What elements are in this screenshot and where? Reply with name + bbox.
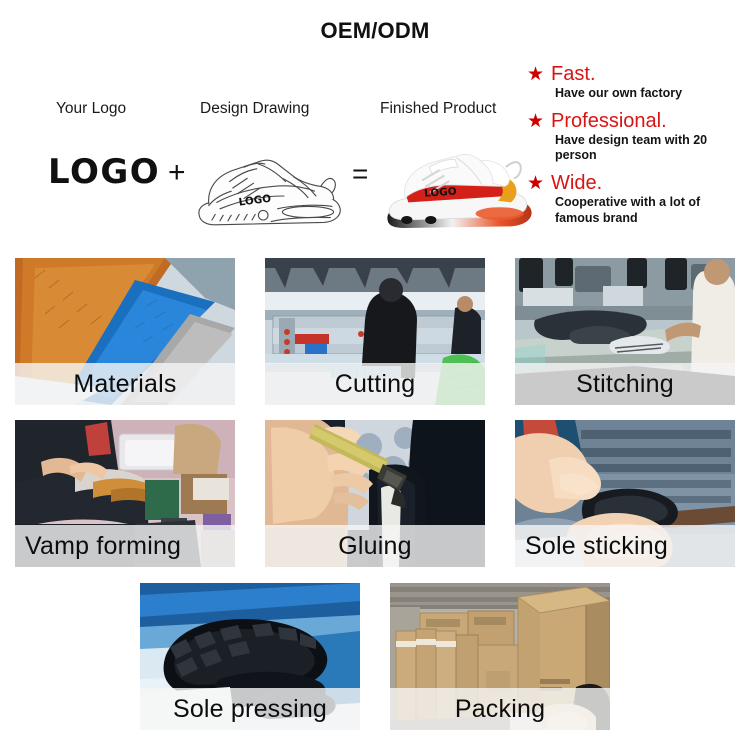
process-tile-cutting[interactable]: Cutting <box>265 258 485 405</box>
tile-caption: Sole sticking <box>515 525 735 567</box>
process-tile-materials[interactable]: Materials <box>15 258 235 405</box>
selling-point-title: Wide. <box>551 173 602 194</box>
selling-point-description: Have our own factory <box>555 86 741 102</box>
plus-operator: + <box>168 156 186 190</box>
tile-caption: Stitching <box>515 363 735 405</box>
hero-label-your-logo: Your Logo <box>56 100 126 118</box>
selling-point-title: Professional. <box>551 111 667 132</box>
tile-caption: Packing <box>390 688 610 730</box>
shoe-sketch-illustration: LOGO <box>188 132 348 244</box>
star-icon: ★ <box>527 174 544 193</box>
equals-operator: = <box>352 158 368 190</box>
process-tile-sole-pressing[interactable]: Sole pressing <box>140 583 360 730</box>
tile-caption: Gluing <box>265 525 485 567</box>
tile-caption: Sole pressing <box>140 688 360 730</box>
tile-caption: Vamp forming <box>15 525 235 567</box>
hero-label-design-drawing: Design Drawing <box>200 100 309 118</box>
product-logo-text: LOGO <box>424 186 457 200</box>
selling-point-title: Fast. <box>551 64 595 85</box>
selling-point-wide: ★ Wide. <box>527 173 745 194</box>
page-title: OEM/ODM <box>0 18 750 44</box>
process-tile-gluing[interactable]: Gluing <box>265 420 485 567</box>
tile-caption: Cutting <box>265 363 485 405</box>
hero-label-finished-product: Finished Product <box>380 100 496 118</box>
selling-point-professional: ★ Professional. <box>527 111 745 132</box>
selling-point-description: Have design team with 20 person <box>555 133 741 164</box>
finished-shoe-illustration: LOGO <box>378 132 538 244</box>
process-tile-sole-sticking[interactable]: Sole sticking <box>515 420 735 567</box>
star-icon: ★ <box>527 65 544 84</box>
selling-point-description: Cooperative with a lot of famous brand <box>555 195 741 226</box>
star-icon: ★ <box>527 112 544 131</box>
process-tile-vamp-forming[interactable]: Vamp forming <box>15 420 235 567</box>
selling-point-fast: ★ Fast. <box>527 64 745 85</box>
process-row-1: Materials <box>0 258 750 405</box>
selling-points-list: ★ Fast. Have our own factory ★ Professio… <box>527 64 745 235</box>
process-row-3: Sole pressing <box>0 583 750 730</box>
tile-caption: Materials <box>15 363 235 405</box>
customer-logo-wordmark: LOGO <box>48 152 160 192</box>
process-tile-packing[interactable]: Packing <box>390 583 610 730</box>
oem-process-hero: Your Logo Design Drawing Finished Produc… <box>0 56 750 246</box>
process-tile-stitching[interactable]: Stitching <box>515 258 735 405</box>
process-row-2: Vamp forming <box>0 420 750 567</box>
